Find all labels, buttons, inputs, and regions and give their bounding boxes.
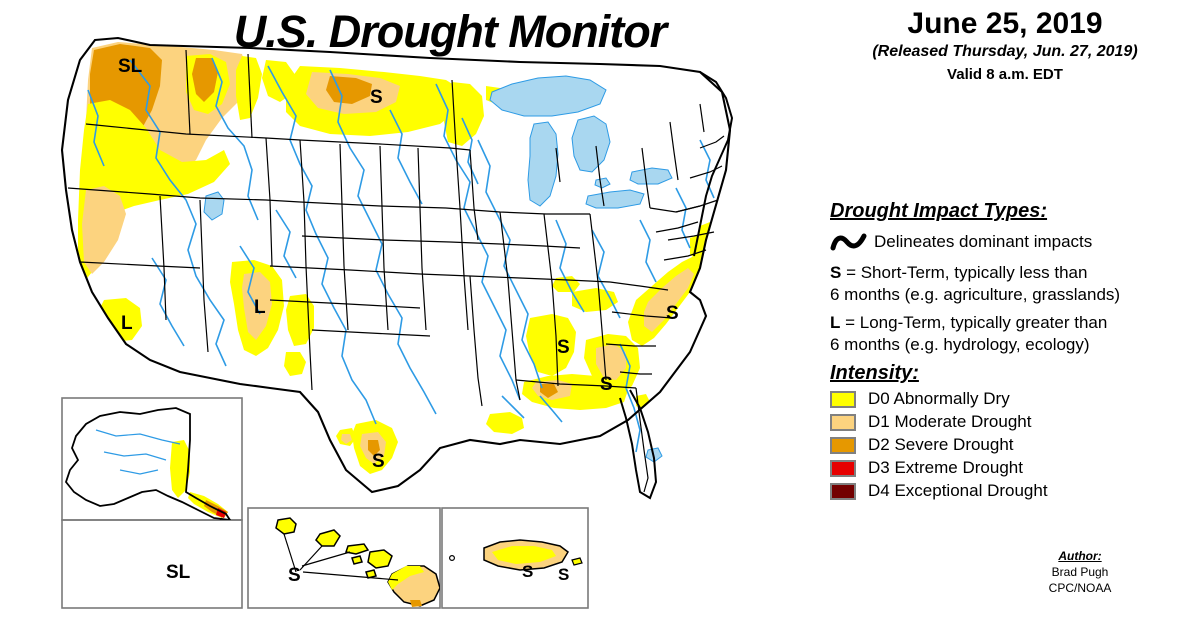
d0-area-texas-panhandle xyxy=(284,352,306,376)
intensity-label-d3: D3 Extreme Drought xyxy=(868,458,1023,478)
author-heading: Author: xyxy=(1000,548,1160,564)
intensity-swatch-d4 xyxy=(830,483,856,500)
maui xyxy=(368,550,392,568)
map-valid-time: Valid 8 a.m. EDT xyxy=(820,64,1190,87)
d1-area-oregon xyxy=(82,186,126,274)
long-term-text-1: = Long-Term, typically greater than xyxy=(840,313,1107,332)
author-org: CPC/NOAA xyxy=(1000,580,1160,596)
d0-area-minnesota xyxy=(444,82,484,146)
short-term-description: S = Short-Term, typically less than 6 mo… xyxy=(830,262,1120,306)
intensity-row-d0: D0 Abnormally Dry xyxy=(830,388,1048,410)
intensity-swatch-d2 xyxy=(830,437,856,454)
map-label-puerto-rico-west: S xyxy=(522,563,533,580)
mona-island xyxy=(450,556,455,561)
map-label-southern-california: L xyxy=(121,314,133,333)
d0-area-louisiana xyxy=(486,412,524,434)
lake-st-clair xyxy=(595,178,610,188)
intensity-label-d0: D0 Abnormally Dry xyxy=(868,389,1010,409)
short-term-code: S xyxy=(830,263,841,282)
lake-erie xyxy=(586,190,644,208)
intensity-swatch-d1 xyxy=(830,414,856,431)
oahu xyxy=(316,530,340,546)
long-term-code: L xyxy=(830,313,840,332)
map-label-new-mexico: L xyxy=(254,298,266,317)
hawaii-island-d2 xyxy=(410,600,422,607)
date-block: June 25, 2019 (Released Thursday, Jun. 2… xyxy=(820,8,1190,86)
lake-ontario xyxy=(630,168,672,184)
long-term-text-2: 6 months (e.g. hydrology, ecology) xyxy=(830,334,1107,356)
drought-impact-types-heading: Drought Impact Types: xyxy=(830,200,1047,223)
intensity-label-d1: D1 Moderate Drought xyxy=(868,412,1031,432)
intensity-legend: D0 Abnormally DryD1 Moderate DroughtD2 S… xyxy=(830,388,1048,503)
lake-huron xyxy=(572,116,610,172)
intensity-swatch-d3 xyxy=(830,460,856,477)
intensity-label-d2: D2 Severe Drought xyxy=(868,435,1014,455)
intensity-row-d2: D2 Severe Drought xyxy=(830,434,1048,456)
author-block: Author: Brad Pugh CPC/NOAA xyxy=(1000,548,1160,597)
great-salt-lake xyxy=(204,192,224,220)
vieques xyxy=(572,558,582,565)
map-label-pacific-northwest: SL xyxy=(118,57,142,76)
lake-michigan xyxy=(528,122,558,206)
hawaii-map xyxy=(276,518,440,607)
kauai xyxy=(276,518,296,534)
map-date: June 25, 2019 xyxy=(820,8,1190,40)
alaska-outline xyxy=(66,408,230,520)
map-label-georgia-alabama: S xyxy=(600,375,613,394)
wiggle-legend-label: Delineates dominant impacts xyxy=(874,232,1092,252)
aleutians-outline xyxy=(72,546,228,578)
map-label-northern-plains: S xyxy=(370,88,383,107)
page-title: U.S. Drought Monitor xyxy=(150,6,750,58)
lake-superior xyxy=(490,76,606,116)
long-term-description: L = Long-Term, typically greater than 6 … xyxy=(830,312,1107,356)
map-label-carolinas: S xyxy=(666,304,679,323)
map-label-alaska: SL xyxy=(166,563,190,582)
short-term-text-1: = Short-Term, typically less than xyxy=(841,263,1087,282)
author-name: Brad Pugh xyxy=(1000,564,1160,580)
drought-intensity-layer xyxy=(78,42,716,474)
map-label-puerto-rico-east: S xyxy=(558,566,569,583)
kahoolawe xyxy=(366,570,376,578)
short-term-text-2: 6 months (e.g. agriculture, grasslands) xyxy=(830,284,1120,306)
map-label-mississippi: S xyxy=(557,338,570,357)
intensity-row-d1: D1 Moderate Drought xyxy=(830,411,1048,433)
intensity-row-d4: D4 Exceptional Drought xyxy=(830,480,1048,502)
map-label-hawaii: S xyxy=(288,566,301,585)
map-release-date: (Released Thursday, Jun. 27, 2019) xyxy=(820,40,1190,64)
aleutians-inset-frame xyxy=(62,520,242,608)
map-label-south-texas: S xyxy=(372,452,385,471)
alaska-leader-line xyxy=(186,518,222,564)
alaska-map xyxy=(66,408,230,578)
lanai xyxy=(352,556,362,564)
alaska-rivers xyxy=(96,430,180,474)
intensity-row-d3: D3 Extreme Drought xyxy=(830,457,1048,479)
wiggle-icon xyxy=(830,228,870,258)
intensity-label-d4: D4 Exceptional Drought xyxy=(868,481,1048,501)
intensity-heading: Intensity: xyxy=(830,362,919,385)
intensity-swatch-d0 xyxy=(830,391,856,408)
